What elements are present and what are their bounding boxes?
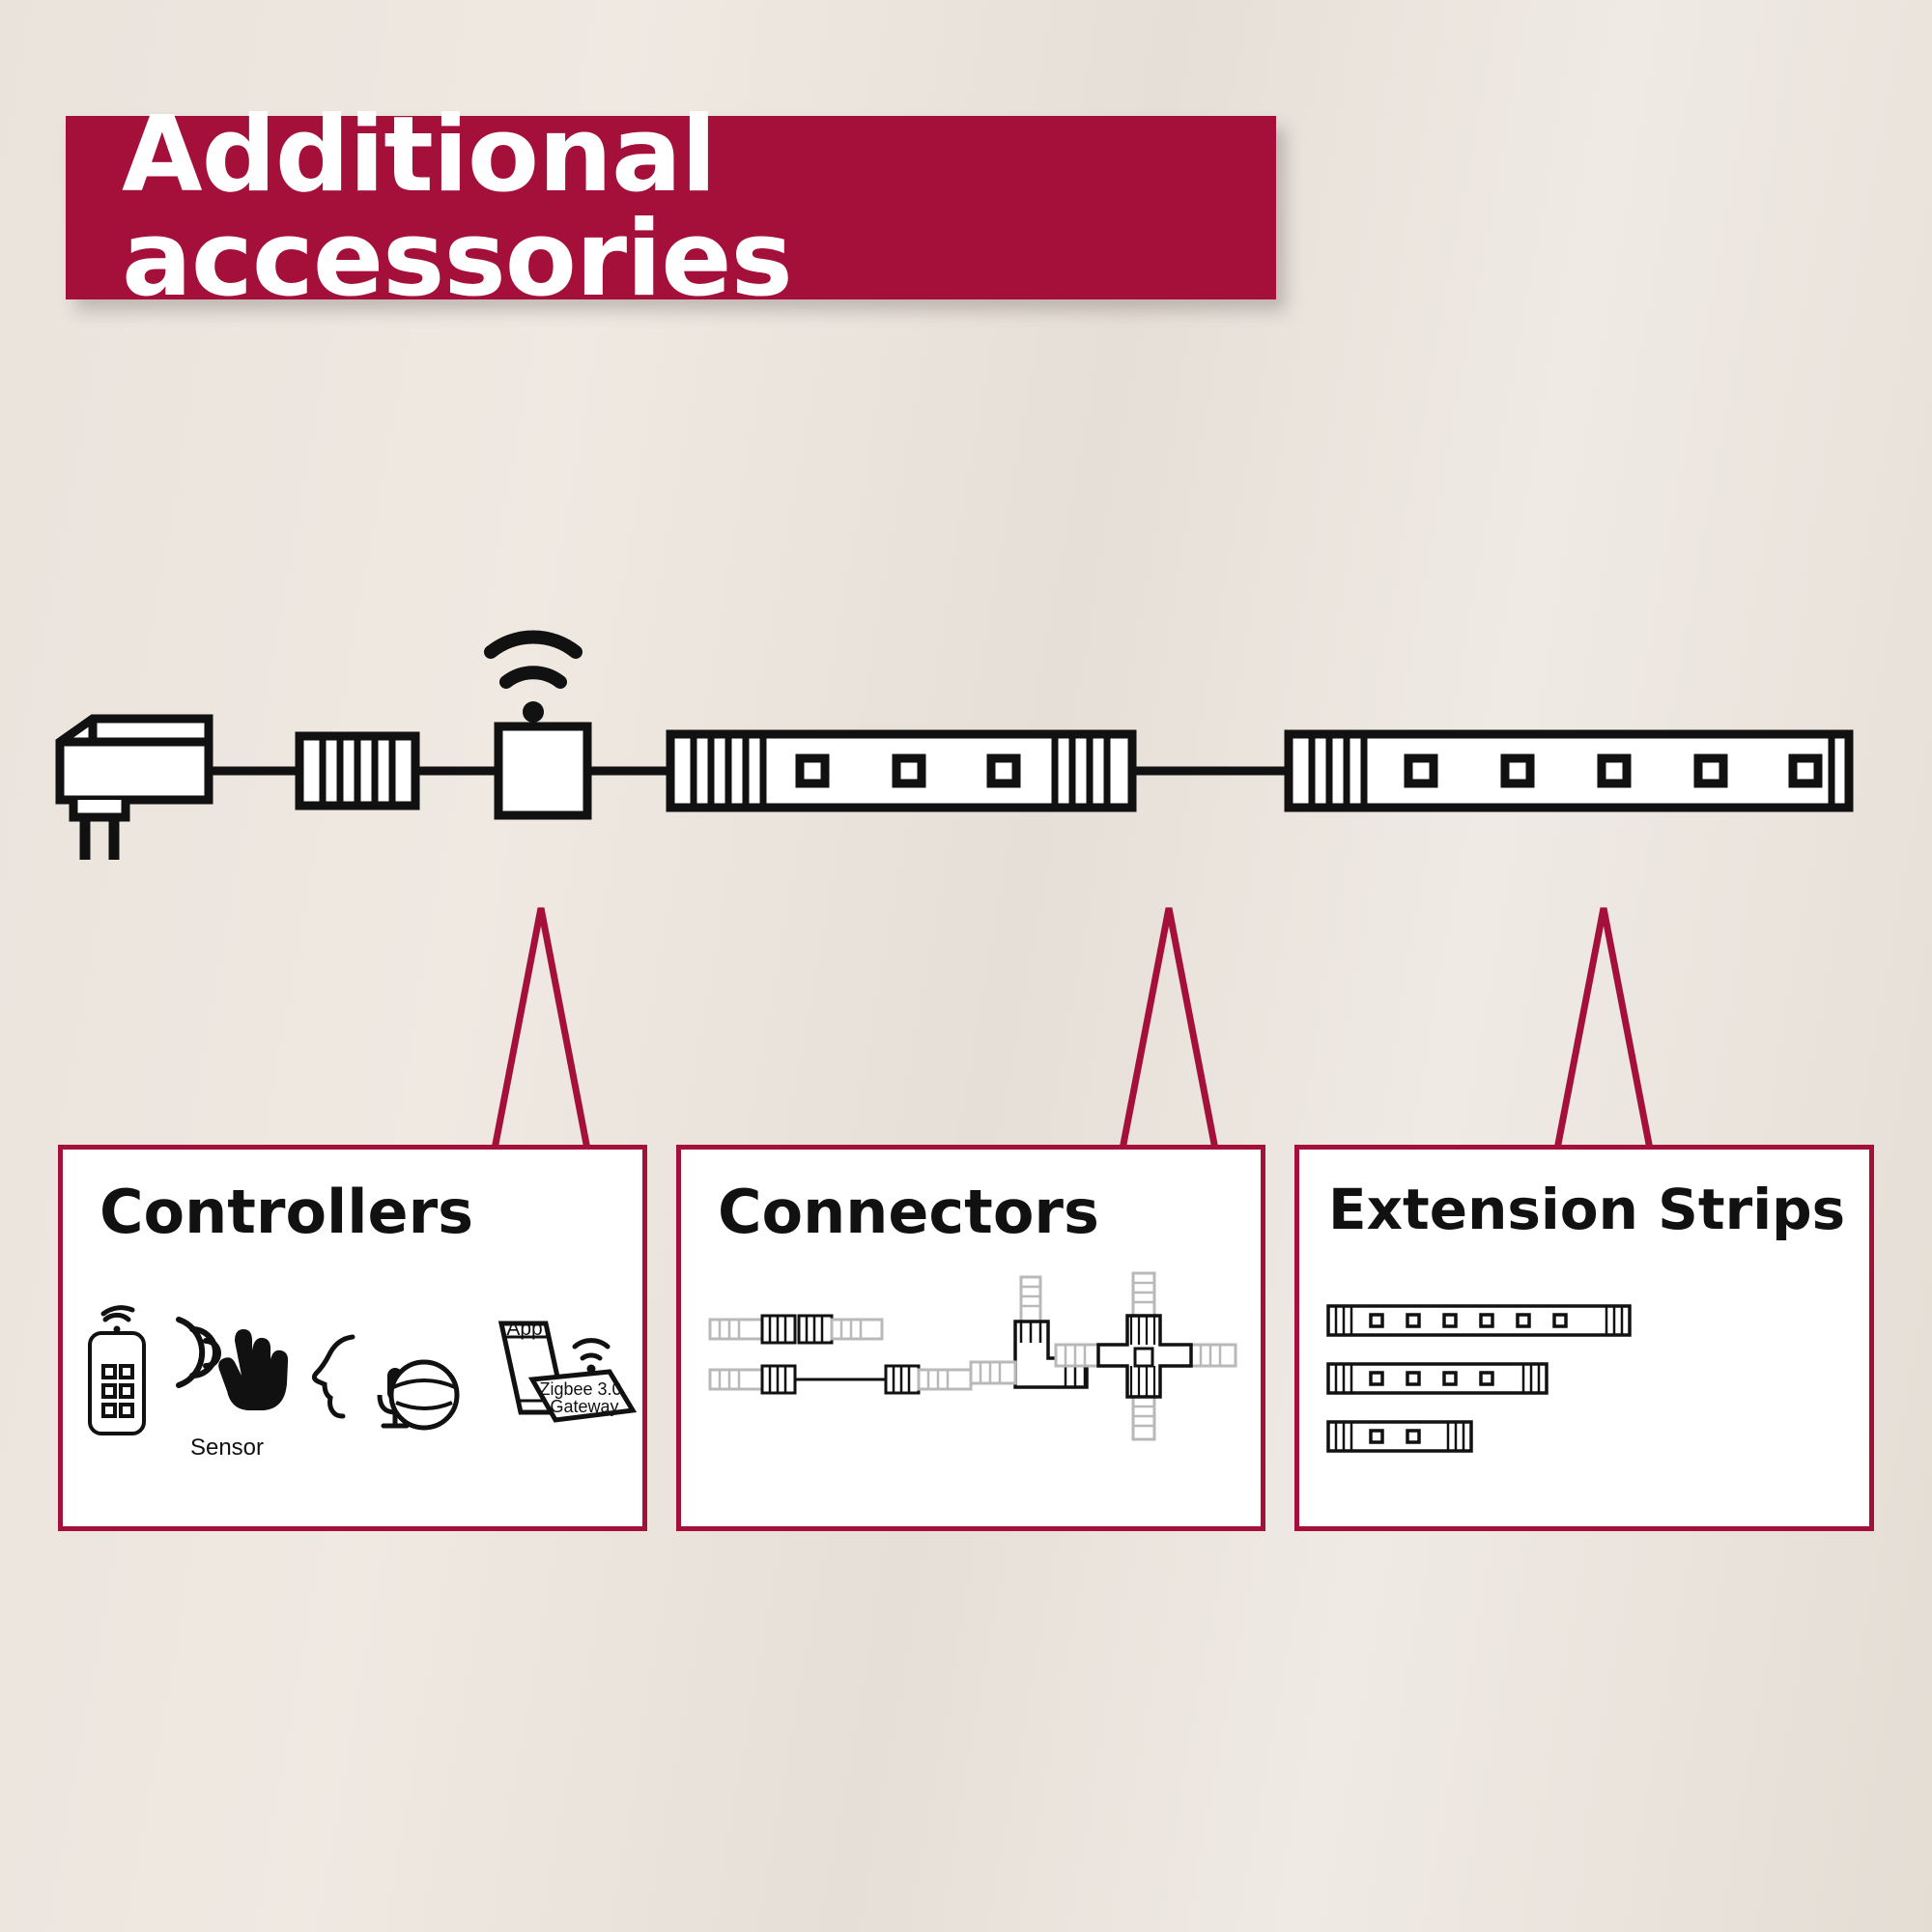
page-title: Additional accessories xyxy=(66,103,1276,312)
connector-block-1 xyxy=(299,736,415,806)
gateway-label-line1: Zigbee 3.0 xyxy=(539,1379,621,1399)
voice-control-icon xyxy=(314,1337,457,1428)
sensor-label: Sensor xyxy=(190,1435,264,1461)
box-title-controllers: Controllers xyxy=(99,1177,473,1247)
led-system-chain-diagram xyxy=(0,618,1932,937)
title-banner: Additional accessories xyxy=(66,116,1276,299)
power-supply-icon xyxy=(60,719,209,860)
wifi-signal-icon xyxy=(491,637,576,682)
straight-connector-icon xyxy=(710,1316,971,1393)
callout-pointer-extensions xyxy=(1546,898,1662,1159)
box-title-connectors: Connectors xyxy=(718,1177,1099,1247)
controllers-icon-group: Sensor App Zigbee 3.0 Gateway xyxy=(63,1265,642,1526)
box-title-extension-strips: Extension Strips xyxy=(1328,1177,1845,1242)
callout-pointer-connectors xyxy=(1111,898,1227,1159)
extension-strips-icon-group xyxy=(1299,1265,1869,1526)
wifi-controller-icon xyxy=(498,726,587,815)
gateway-label-line2: Gateway xyxy=(550,1397,618,1416)
remote-control-icon xyxy=(90,1308,144,1434)
callout-box-connectors: Connectors xyxy=(676,1145,1265,1531)
callout-box-controllers: Controllers xyxy=(58,1145,647,1531)
corner-connector-icon xyxy=(971,1277,1087,1387)
callout-box-extension-strips: Extension Strips xyxy=(1294,1145,1874,1531)
extension-strip-short-icon xyxy=(1328,1422,1471,1451)
wifi-dot-icon xyxy=(523,701,544,723)
cross-connector-icon xyxy=(1056,1273,1236,1439)
extension-strip-medium-icon xyxy=(1328,1364,1547,1393)
extension-strip-long-icon xyxy=(1328,1306,1630,1335)
led-strip-segment-2 xyxy=(1289,734,1849,808)
motion-sensor-icon xyxy=(179,1320,288,1410)
connectors-icon-group xyxy=(681,1265,1261,1526)
callout-pointer-controllers xyxy=(483,898,599,1159)
led-strip-segment-1 xyxy=(670,734,1132,808)
app-label: App xyxy=(506,1318,542,1340)
